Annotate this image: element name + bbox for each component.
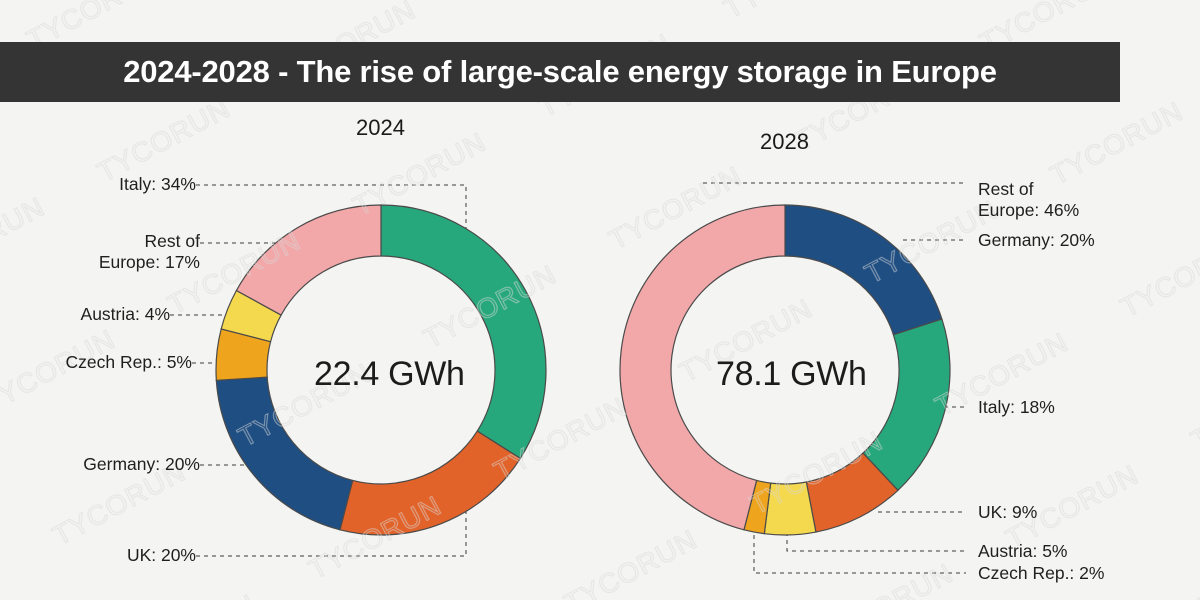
leader-line-austria-2028	[787, 532, 966, 551]
label-uk-2024: UK: 20%	[56, 545, 196, 566]
label-austria-2028: Austria: 5%	[978, 541, 1178, 562]
center-value-2024: 22.4 GWh	[314, 355, 465, 394]
label-uk-2028: UK: 9%	[978, 502, 1178, 523]
slice-italy-2024	[381, 205, 546, 458]
label-rest-of-europe-line1-2024: Rest of	[40, 231, 200, 252]
label-rest-of-europe-line2-2024: Europe: 17%	[40, 252, 200, 273]
center-value-2028: 78.1 GWh	[716, 355, 867, 394]
label-rest-of-europe-line1-2028: Rest of	[978, 179, 1178, 200]
label-germany-2024: Germany: 20%	[30, 454, 200, 475]
slice-germany-2024	[216, 377, 352, 530]
label-germany-2028: Germany: 20%	[978, 230, 1188, 251]
slice-germany-2028	[785, 205, 942, 335]
infographic-canvas: TYCORUN 2024-2028 - The rise of large-sc…	[0, 0, 1200, 600]
label-rest-of-europe-line2-2028: Europe: 46%	[978, 200, 1178, 221]
header-title-bar: 2024-2028 - The rise of large-scale ener…	[0, 42, 1120, 102]
slice-italy-2028	[863, 319, 950, 490]
chart-title-2024: 2024	[356, 115, 405, 141]
page-title: 2024-2028 - The rise of large-scale ener…	[123, 54, 997, 90]
slice-uk-2024	[340, 431, 520, 535]
slice-rest-2024	[236, 205, 381, 315]
label-czech-2024: Czech Rep.: 5%	[22, 352, 192, 373]
slice-austria-2028	[764, 482, 816, 535]
label-austria-2024: Austria: 4%	[10, 304, 170, 325]
label-czech-2028: Czech Rep.: 2%	[978, 563, 1188, 584]
leader-line-czech-2028	[754, 535, 966, 573]
label-italy-2028: Italy: 18%	[978, 397, 1178, 418]
label-italy-2024: Italy: 34%	[46, 174, 196, 195]
chart-title-2028: 2028	[760, 129, 809, 155]
